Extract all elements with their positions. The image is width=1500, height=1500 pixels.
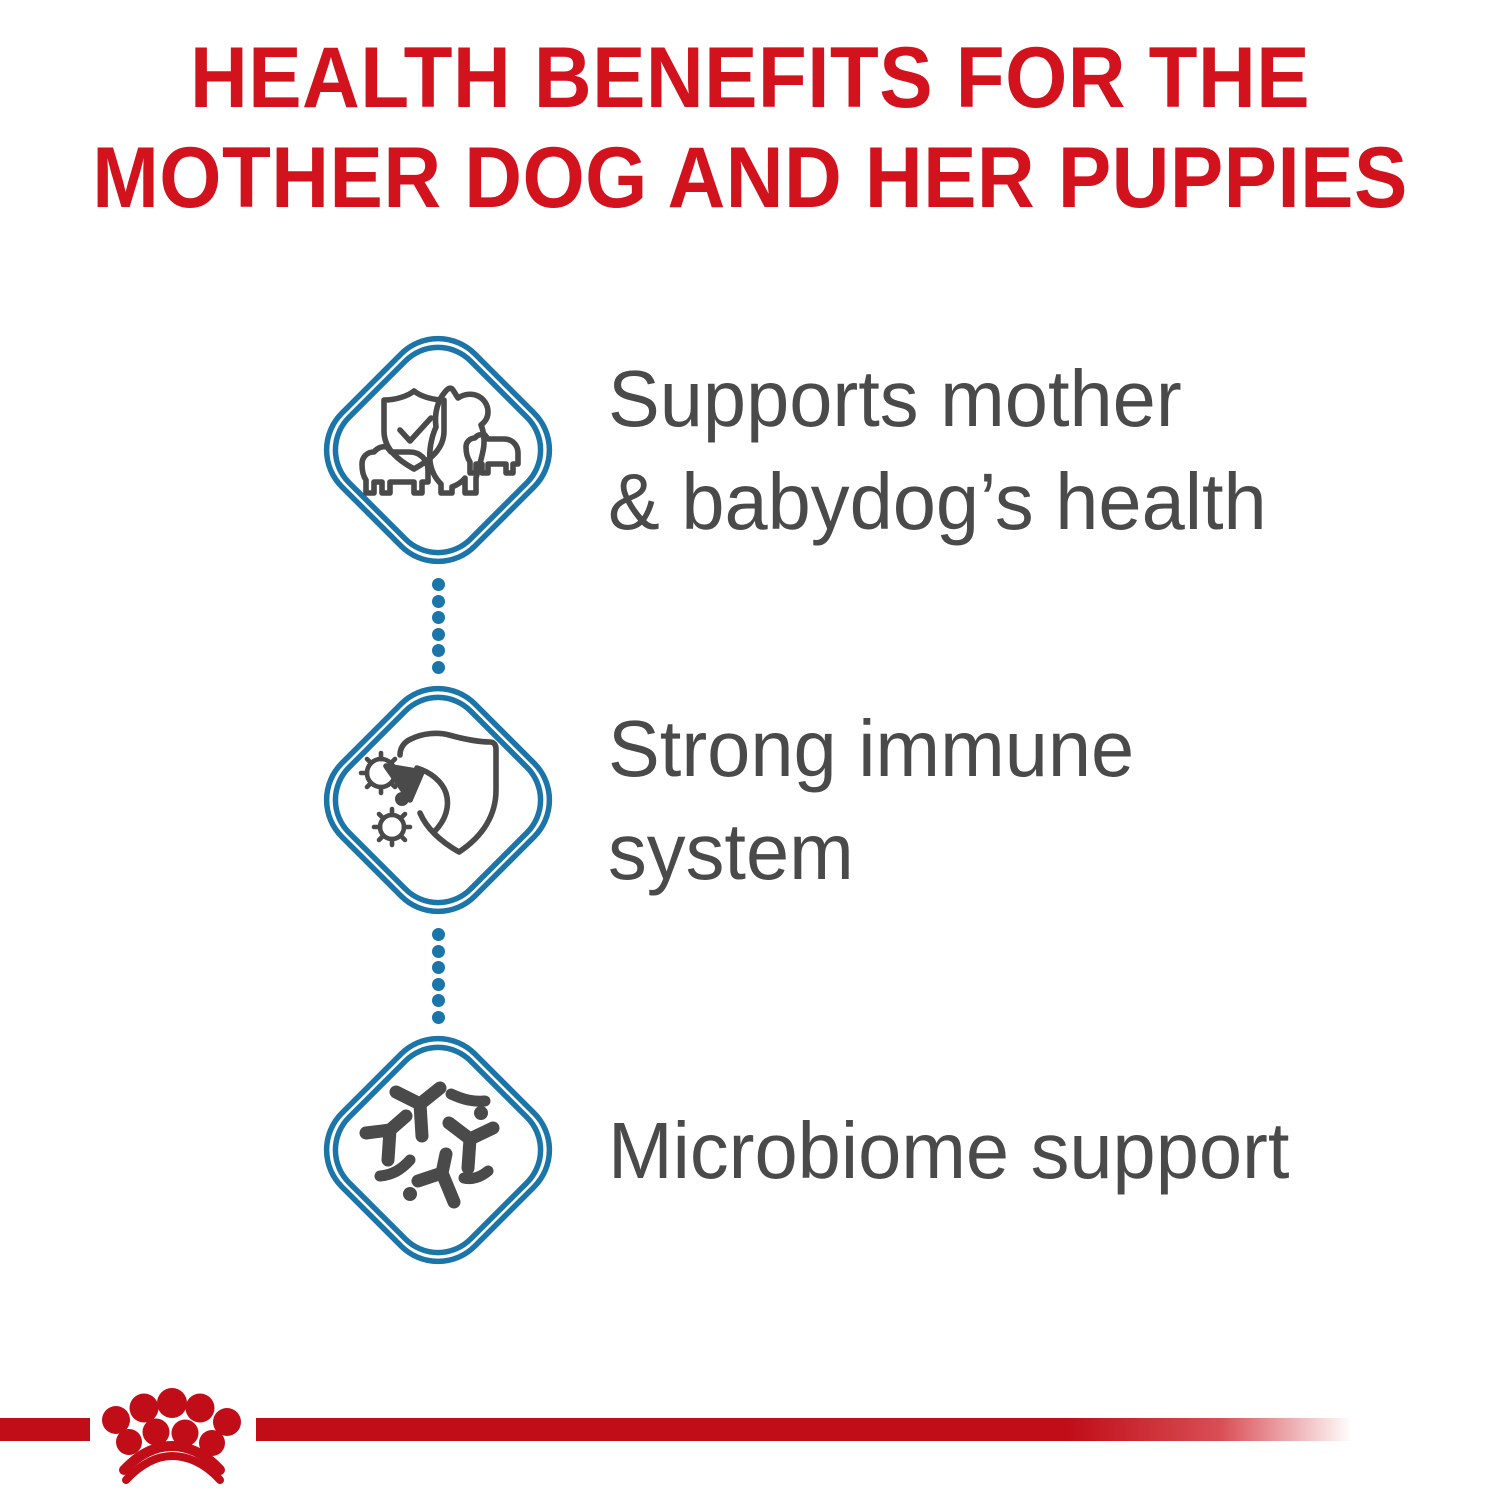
benefit-label-line-1: Microbiome support [608,1099,1423,1202]
benefit-row: Microbiome support [0,1030,1500,1380]
footer-bar-right [256,1418,1352,1441]
benefits-list: Supports mother & babydog’s health [0,330,1500,1380]
shield-germs-immune-icon [318,680,558,920]
benefit-label: Microbiome support [608,1030,1423,1270]
benefit-row: Supports mother & babydog’s health [0,330,1500,680]
dotted-connector-icon [424,928,452,1024]
benefit-label: Strong immune system [608,680,1423,920]
benefit-label-line-1: Supports mother [608,347,1423,450]
footer-bar-left [0,1418,90,1441]
dotted-connector-icon [424,578,452,674]
page-title: HEALTH BENEFITS FOR THE MOTHER DOG AND H… [0,28,1500,228]
footer [0,1370,1500,1500]
mother-dog-puppies-shield-icon [318,330,558,570]
benefit-label-line-2: system [608,800,1423,903]
benefit-label-line-2: & babydog’s health [608,450,1423,553]
microbiome-bacteria-icon [318,1030,558,1270]
benefit-row: Strong immune system [0,680,1500,1030]
benefit-label: Supports mother & babydog’s health [608,330,1423,570]
title-line-1: HEALTH BENEFITS FOR THE [53,28,1448,128]
benefit-label-line-1: Strong immune [608,697,1423,800]
royal-canin-crown-logo [96,1376,246,1488]
title-line-2: MOTHER DOG AND HER PUPPIES [53,128,1448,228]
